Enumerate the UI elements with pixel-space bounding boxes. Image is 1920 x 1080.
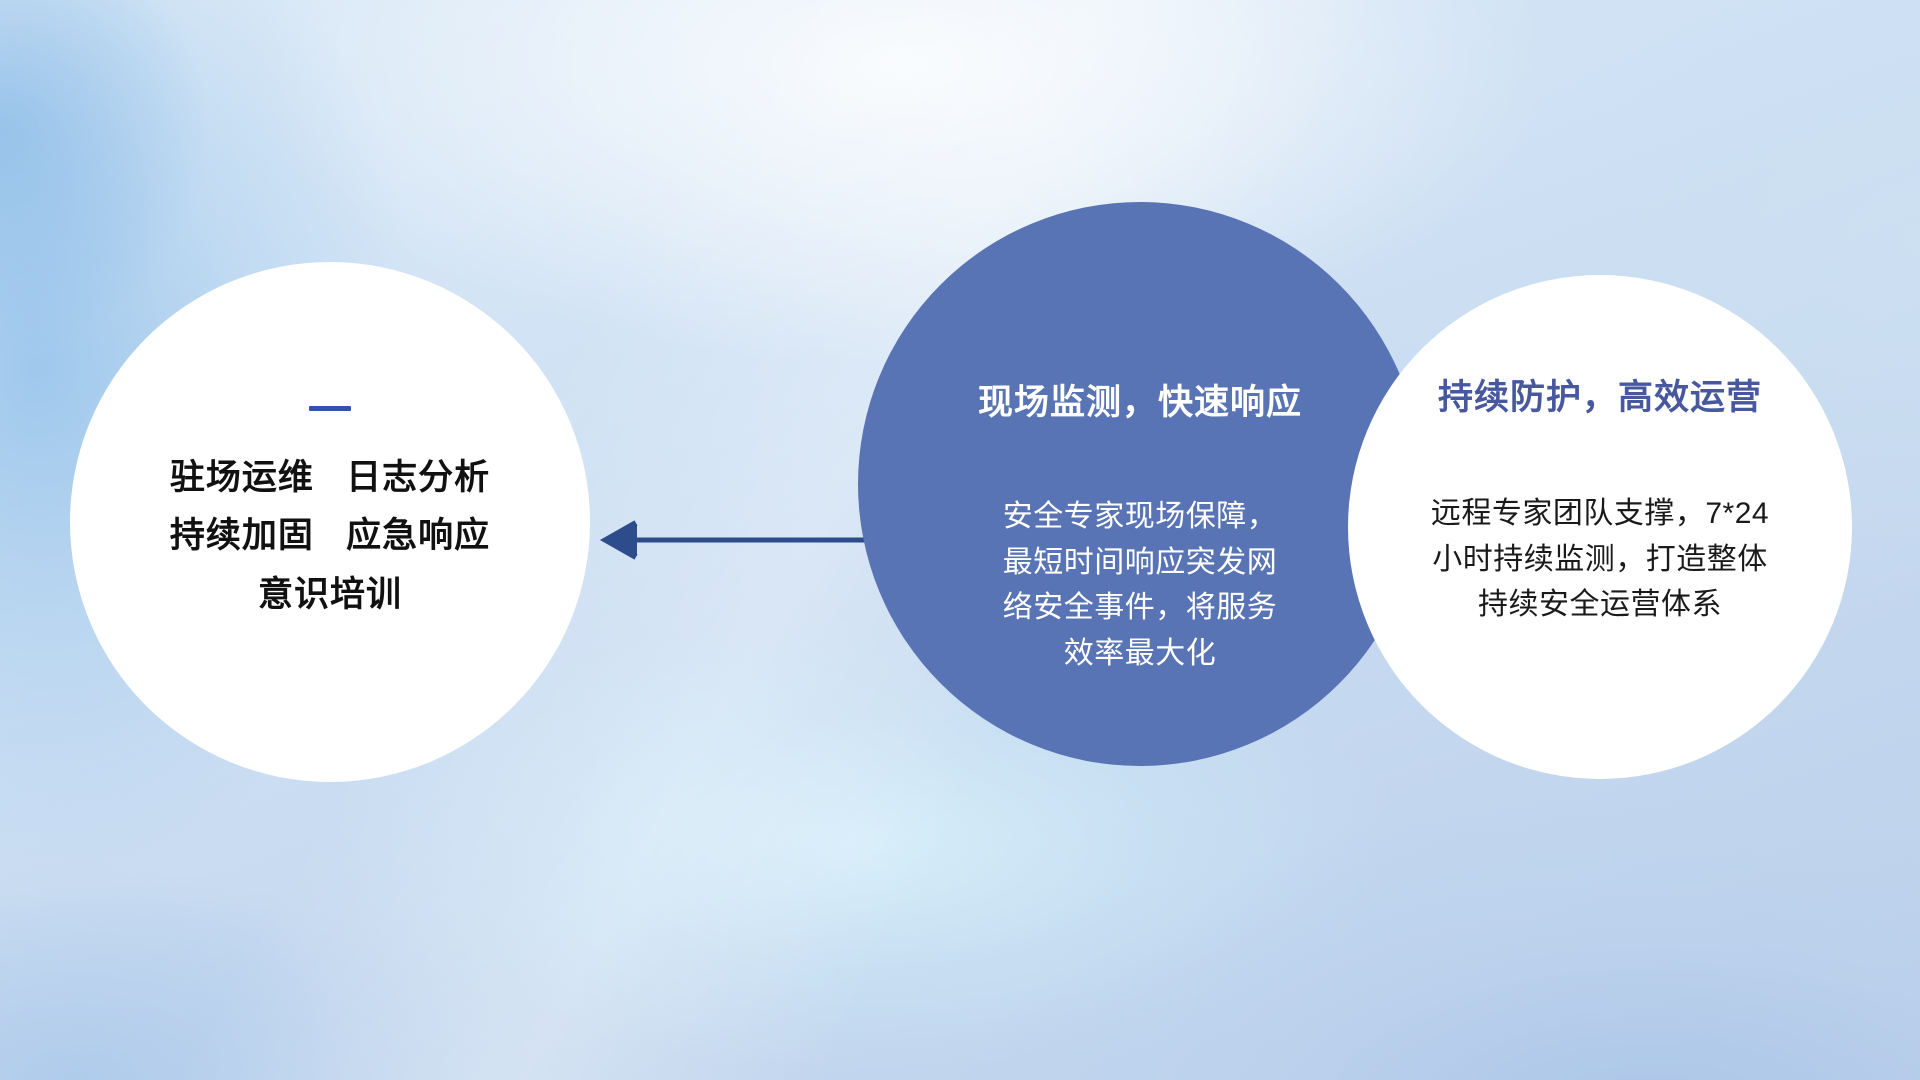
middle-circle-title: 现场监测，快速响应 bbox=[858, 374, 1422, 425]
middle-onsite-circle[interactable]: 现场监测，快速响应 安全专家现场保障， 最短时间响应突发网 络安全事件，将服务 … bbox=[858, 202, 1422, 766]
slide-canvas: 驻场运维 日志分析 持续加固 应急响应 意识培训 现场监测，快速响应 安全专家现… bbox=[0, 0, 1920, 1080]
right-circle-body: 远程专家团队支撑，7*24 小时持续监测，打造整体 持续安全运营体系 bbox=[1382, 491, 1818, 628]
middle-body-line-2: 最短时间响应突发网 bbox=[938, 540, 1342, 586]
right-operations-circle[interactable]: 持续防护，高效运营 远程专家团队支撑，7*24 小时持续监测，打造整体 持续安全… bbox=[1348, 275, 1852, 779]
left-capability-circle[interactable]: 驻场运维 日志分析 持续加固 应急响应 意识培训 bbox=[70, 262, 590, 782]
middle-body-line-1: 安全专家现场保障， bbox=[938, 494, 1342, 540]
capability-list: 驻场运维 日志分析 持续加固 应急响应 意识培训 bbox=[70, 458, 590, 615]
right-body-line-2: 小时持续监测，打造整体 bbox=[1382, 537, 1818, 583]
capability-line-2: 持续加固 应急响应 bbox=[170, 516, 490, 556]
middle-body-line-3: 络安全事件，将服务 bbox=[938, 585, 1342, 631]
middle-circle-body: 安全专家现场保障， 最短时间响应突发网 络安全事件，将服务 效率最大化 bbox=[938, 494, 1342, 676]
capability-line-3: 意识培训 bbox=[258, 575, 402, 615]
middle-body-line-4: 效率最大化 bbox=[938, 631, 1342, 677]
divider-dash bbox=[309, 406, 351, 411]
right-circle-title: 持续防护，高效运营 bbox=[1348, 369, 1852, 420]
right-body-line-1: 远程专家团队支撑，7*24 bbox=[1382, 491, 1818, 537]
capability-line-1: 驻场运维 日志分析 bbox=[170, 458, 490, 498]
right-body-line-3: 持续安全运营体系 bbox=[1382, 582, 1818, 628]
connector-arrow bbox=[590, 518, 890, 562]
